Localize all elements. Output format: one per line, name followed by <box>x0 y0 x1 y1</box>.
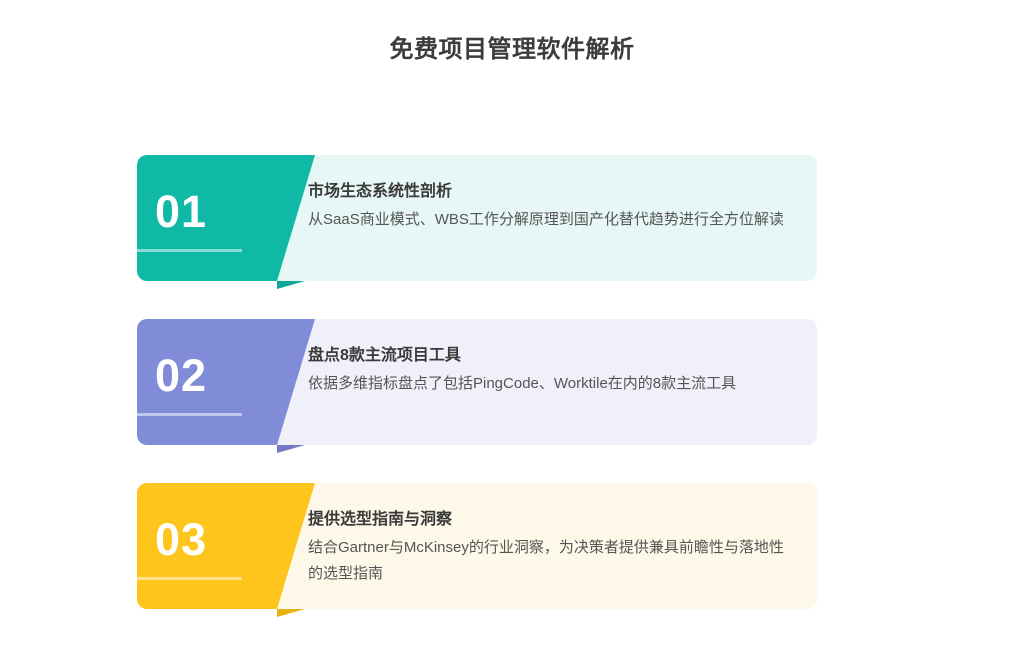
card-number-underline <box>137 577 242 580</box>
badge-tip-fold <box>277 281 305 289</box>
card-description: 结合Gartner与McKinsey的行业洞察，为决策者提供兼具前瞻性与落地性的… <box>308 535 788 587</box>
card-heading: 市场生态系统性剖析 <box>308 180 788 204</box>
card-text-block: 提供选型指南与洞察 结合Gartner与McKinsey的行业洞察，为决策者提供… <box>308 508 788 587</box>
card-list: 01 市场生态系统性剖析 从SaaS商业模式、WBS工作分解原理到国产化替代趋势… <box>137 155 817 647</box>
badge-tip-fold <box>277 445 305 453</box>
card-heading: 盘点8款主流项目工具 <box>308 344 788 368</box>
page-title: 免费项目管理软件解析 <box>0 33 1024 67</box>
card-description: 从SaaS商业模式、WBS工作分解原理到国产化替代趋势进行全方位解读 <box>308 207 788 233</box>
card-description: 依据多维指标盘点了包括PingCode、Worktile在内的8款主流工具 <box>308 371 788 397</box>
card-item[interactable]: 02 盘点8款主流项目工具 依据多维指标盘点了包括PingCode、Workti… <box>137 319 817 445</box>
badge-tip-fold <box>277 609 305 617</box>
card-number: 03 <box>155 514 207 566</box>
card-text-block: 市场生态系统性剖析 从SaaS商业模式、WBS工作分解原理到国产化替代趋势进行全… <box>308 180 788 233</box>
card-heading: 提供选型指南与洞察 <box>308 508 788 532</box>
card-number-underline <box>137 413 242 416</box>
card-number: 02 <box>155 350 207 402</box>
card-item[interactable]: 01 市场生态系统性剖析 从SaaS商业模式、WBS工作分解原理到国产化替代趋势… <box>137 155 817 281</box>
card-text-block: 盘点8款主流项目工具 依据多维指标盘点了包括PingCode、Worktile在… <box>308 344 788 397</box>
card-number-underline <box>137 249 242 252</box>
card-number: 01 <box>155 186 207 238</box>
card-item[interactable]: 03 提供选型指南与洞察 结合Gartner与McKinsey的行业洞察，为决策… <box>137 483 817 609</box>
page-root: 免费项目管理软件解析 01 市场生态系统性剖析 从SaaS商业模式、WBS工作分… <box>0 0 1024 627</box>
